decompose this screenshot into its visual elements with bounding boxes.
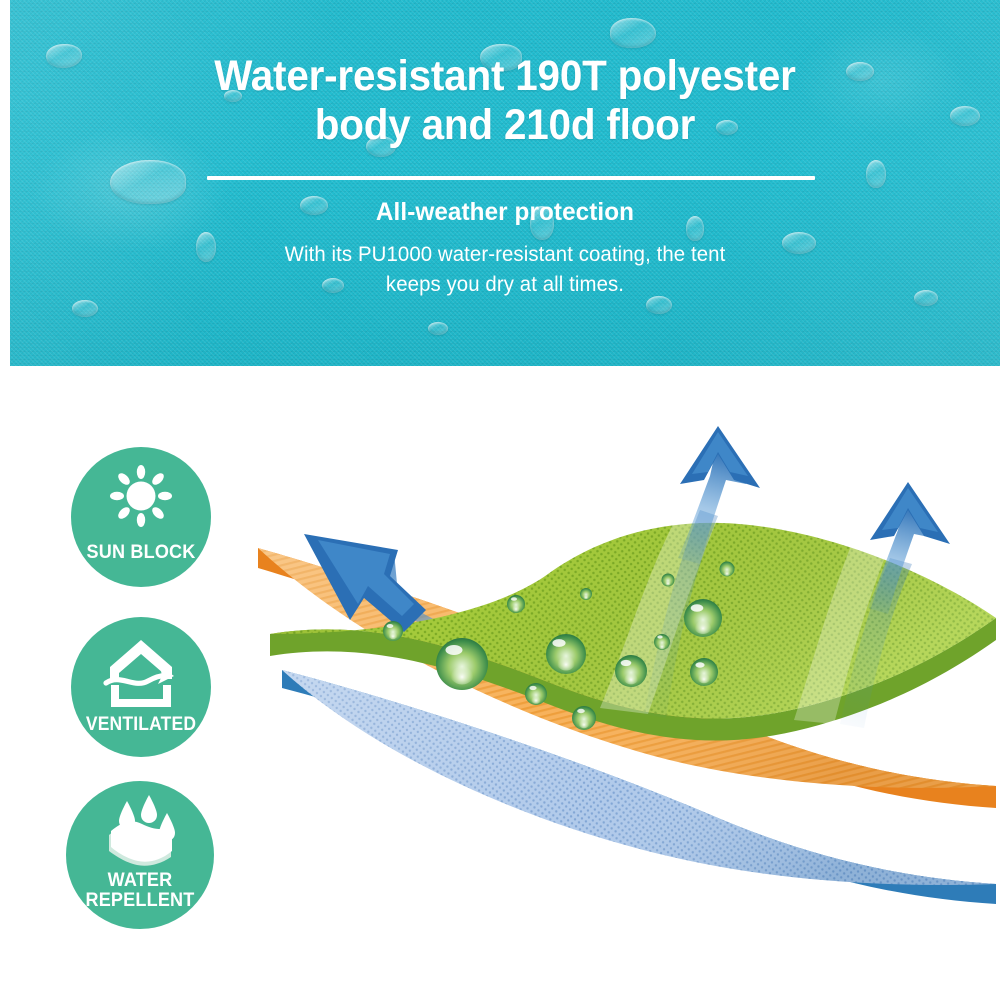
water-droplet (615, 655, 647, 687)
product-feature-page: Water-resistant 190T polyester body and … (0, 0, 1000, 1000)
water-droplet (572, 706, 596, 730)
water-droplet (507, 595, 525, 613)
fabric-droplets-icon (66, 795, 214, 869)
water-droplet (436, 638, 488, 690)
fabric-layers-diagram (248, 418, 1000, 928)
water-droplet (525, 683, 547, 705)
water-droplet (720, 562, 735, 577)
body-text: With its PU1000 water-resistant coating,… (25, 240, 985, 300)
headline: Water-resistant 190T polyester body and … (40, 52, 971, 150)
badge-label: VENTILATED (77, 714, 206, 757)
divider-rule (207, 176, 815, 180)
banner-text-block: Water-resistant 190T polyester body and … (10, 0, 1000, 366)
water-droplet (684, 599, 722, 637)
sun-icon (71, 463, 211, 533)
badge-sun-block: SUN BLOCK (71, 447, 211, 587)
badge-label: SUN BLOCK (75, 542, 208, 587)
badge-water-repellent: WATER REPELLENT (66, 781, 214, 929)
house-airflow-icon (71, 635, 211, 707)
hero-banner: Water-resistant 190T polyester body and … (10, 0, 1000, 366)
water-droplet (662, 574, 675, 587)
badge-ventilated: VENTILATED (71, 617, 211, 757)
water-droplet (654, 634, 670, 650)
water-droplet (383, 621, 403, 641)
badge-label: WATER REPELLENT (70, 871, 211, 929)
water-droplet (580, 588, 592, 600)
subheadline: All-weather protection (25, 198, 985, 227)
water-droplet (546, 634, 586, 674)
water-droplet (690, 658, 718, 686)
